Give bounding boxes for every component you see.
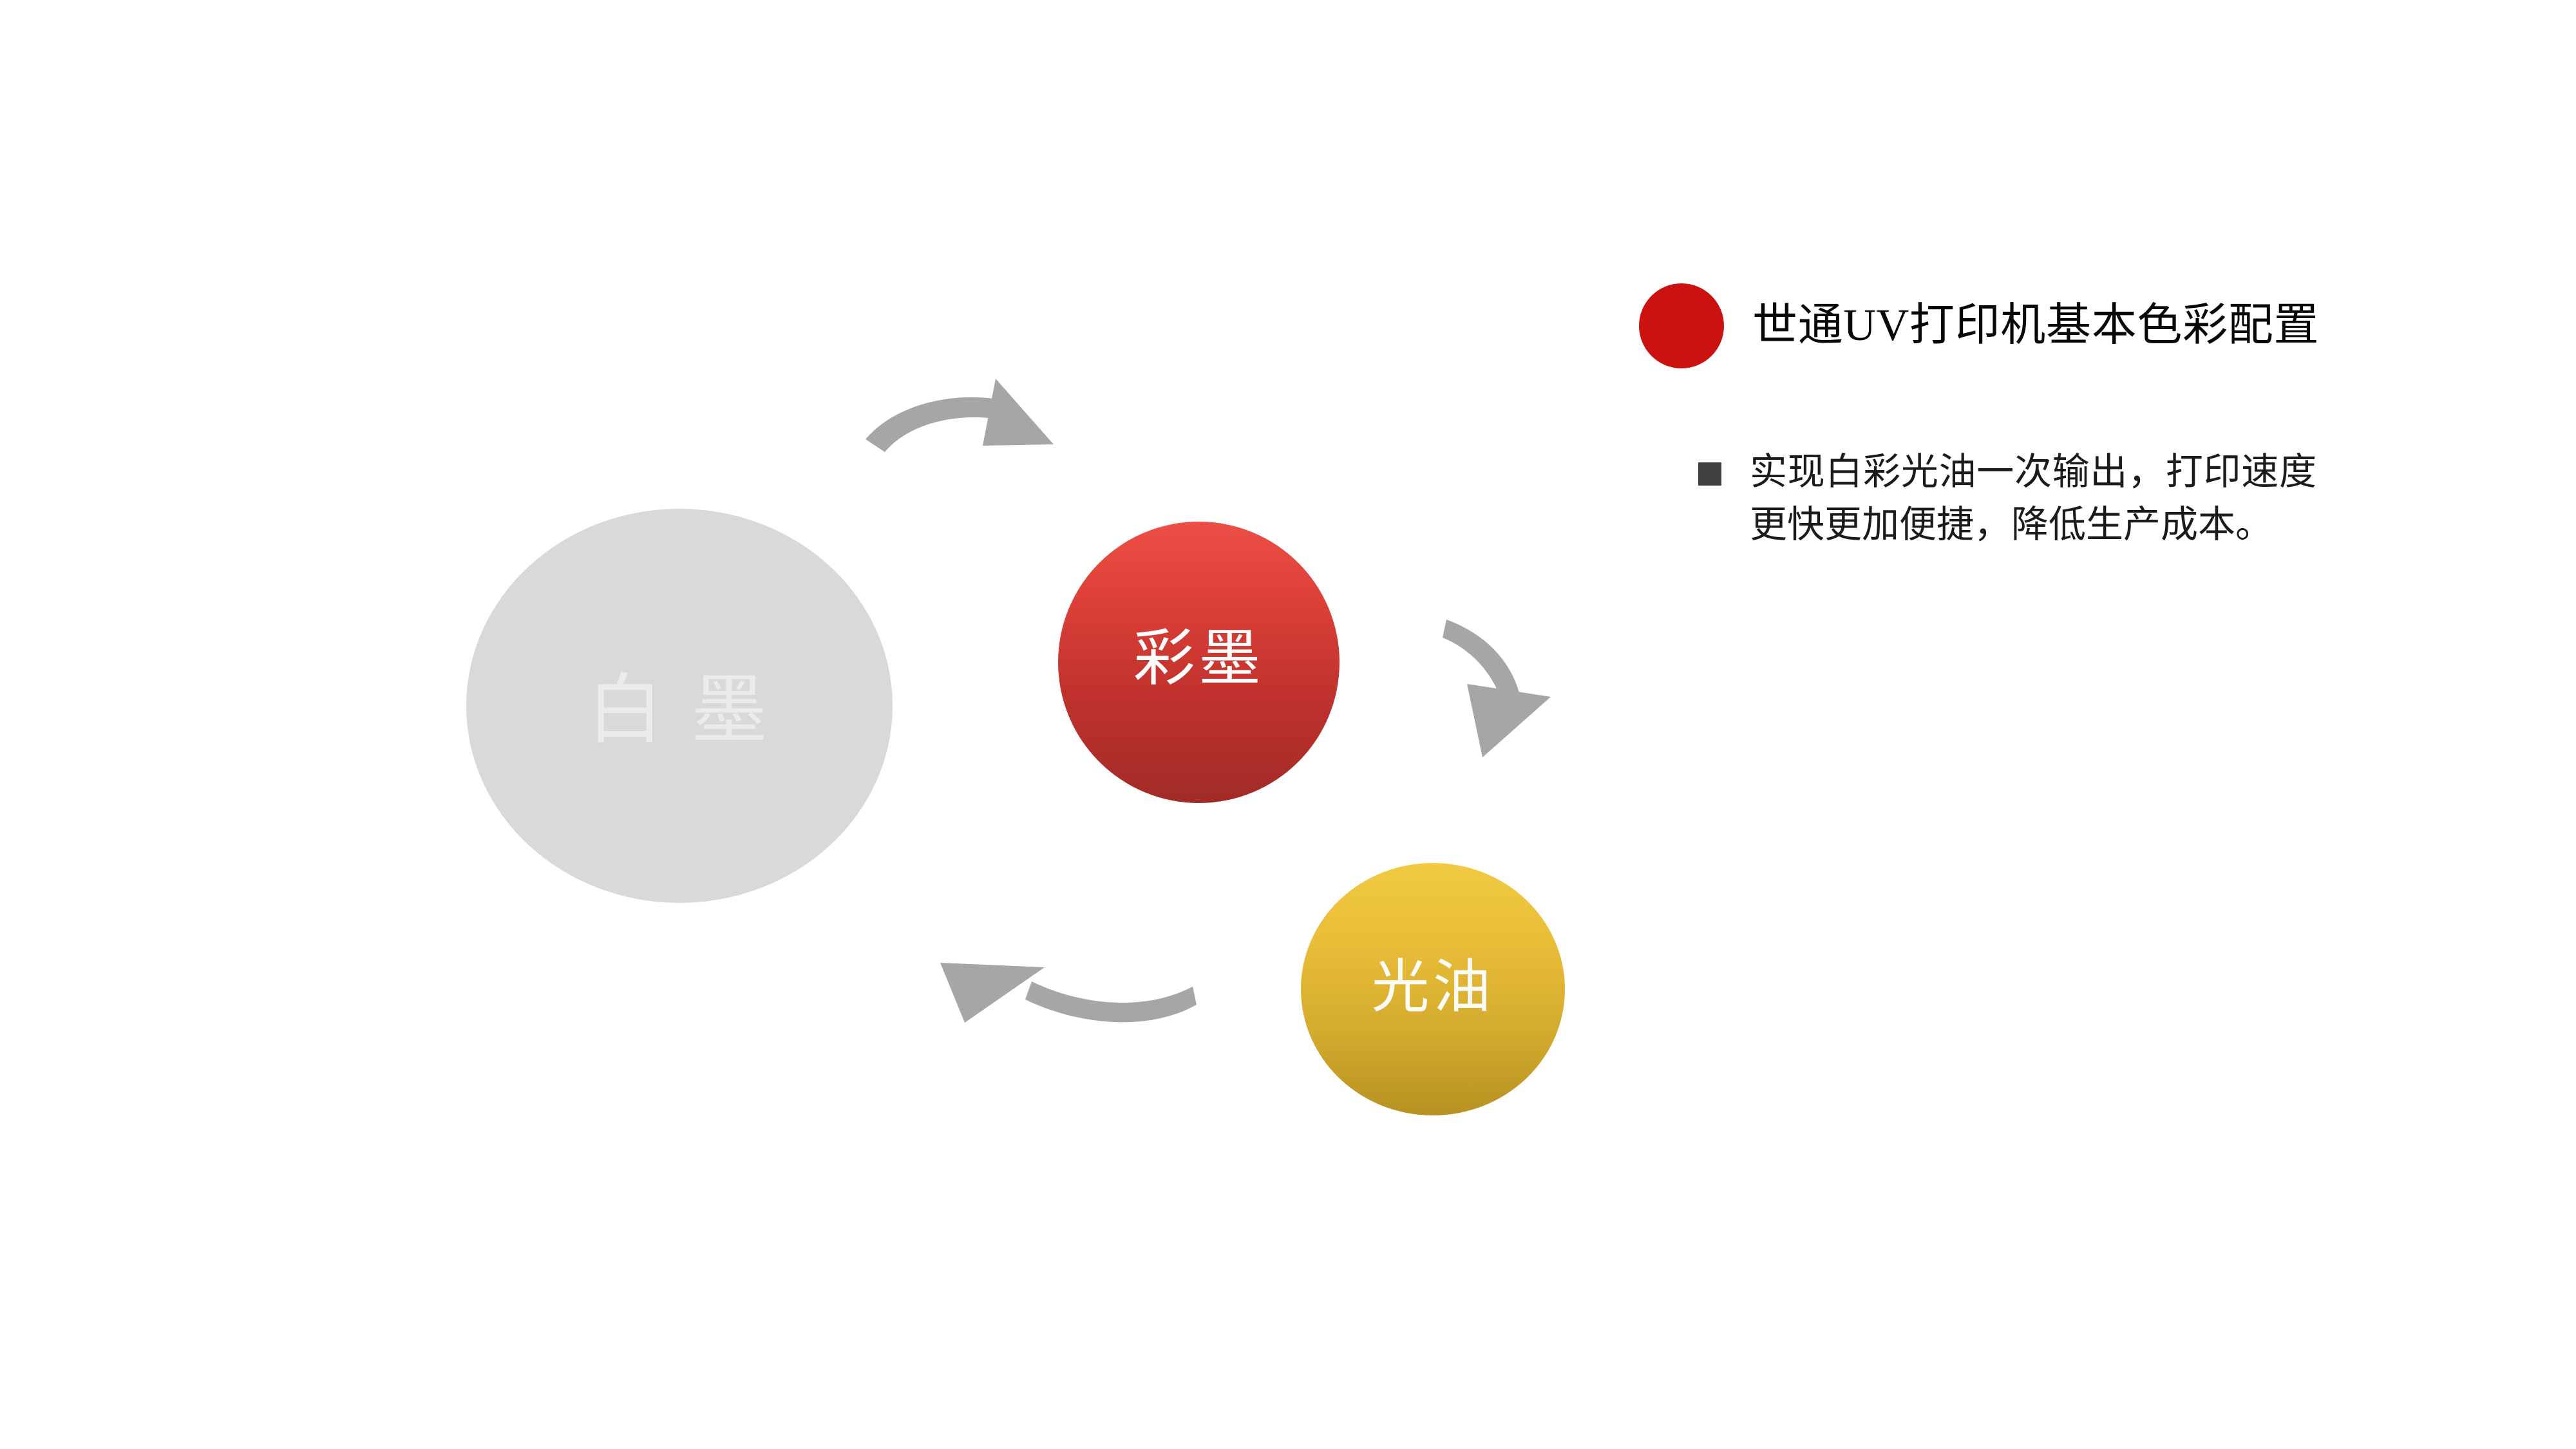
node-color-ink-label: 彩墨 <box>1133 628 1265 690</box>
node-white-ink[interactable]: 白 墨 <box>466 509 893 903</box>
red-circle-bullet-icon <box>1639 283 1724 368</box>
page-title: 世通UV打印机基本色彩配置 <box>1752 301 2319 350</box>
node-varnish[interactable]: 光油 <box>1301 863 1565 1115</box>
node-color-ink[interactable]: 彩墨 <box>1058 522 1340 803</box>
content-column: 世通UV打印机基本色彩配置 实现白彩光油一次输出，打印速度更快更加便捷，降低生产… <box>1639 283 2476 552</box>
arrow-varnish-to-white-icon <box>934 927 1224 1050</box>
node-varnish-label: 光油 <box>1372 959 1495 1017</box>
node-white-ink-label: 白 墨 <box>587 673 772 749</box>
heading-block: 世通UV打印机基本色彩配置 <box>1639 283 2476 368</box>
square-bullet-icon <box>1698 462 1721 486</box>
body-bullet-item: 实现白彩光油一次输出，打印速度更快更加便捷，降低生产成本。 <box>1698 446 2476 552</box>
print-cycle-diagram: 白 墨 彩墨 光油 <box>0 0 1674 1449</box>
slide-canvas: 白 墨 彩墨 光油 世通UV打印机基本色彩配置 实现白彩光油一次输出，打印速度更… <box>0 0 2576 1449</box>
body-paragraph: 实现白彩光油一次输出，打印速度更快更加便捷，降低生产成本。 <box>1750 446 2316 552</box>
arrow-white-to-color-icon <box>857 367 1127 496</box>
arrow-color-to-varnish-icon <box>1443 612 1591 779</box>
